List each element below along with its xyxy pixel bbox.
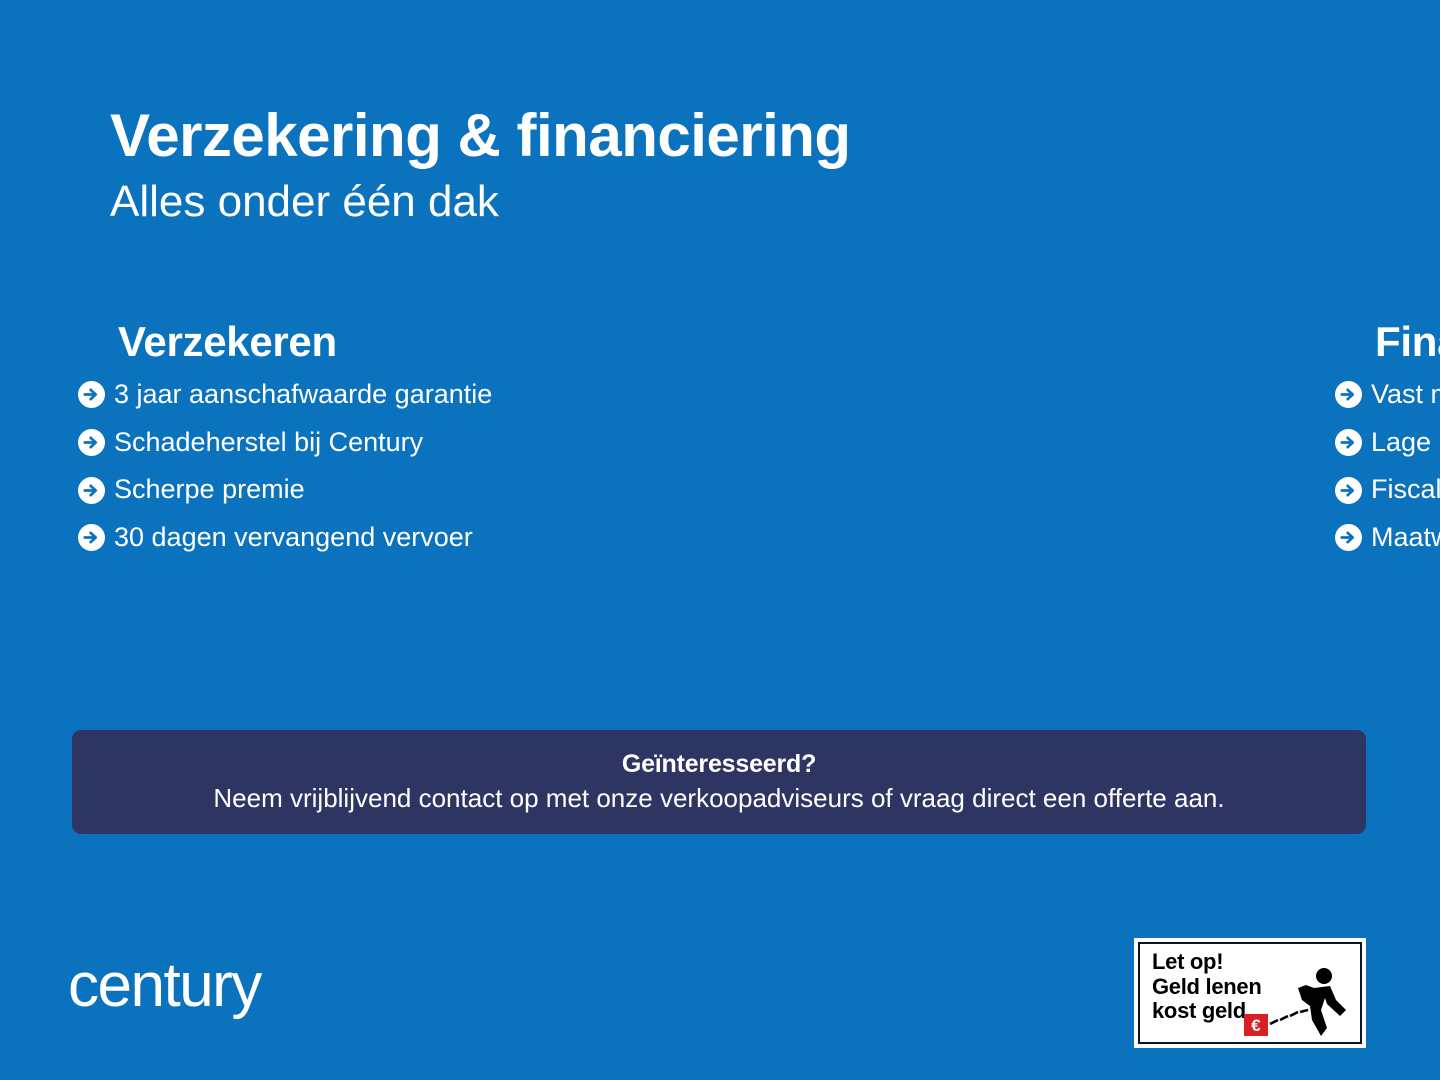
column-verzekeren: Verzekeren 3 jaar aanschafwaarde garanti… bbox=[0, 318, 630, 571]
page-title: Verzekering & financiering bbox=[110, 104, 851, 167]
arrow-circle-right-icon bbox=[78, 477, 105, 504]
list-item-label: Vast maandbedrag, looptijd en rente bbox=[1371, 380, 1440, 410]
cta-heading: Geïnteresseerd? bbox=[622, 750, 816, 779]
list-item: 3 jaar aanschafwaarde garantie bbox=[78, 380, 630, 410]
arrow-circle-right-icon bbox=[78, 524, 105, 551]
list-item-label: 3 jaar aanschafwaarde garantie bbox=[114, 380, 492, 410]
list-item-label: Lage maandlasten door hoge restwaarde bbox=[1371, 428, 1440, 458]
feature-columns: Verzekeren 3 jaar aanschafwaarde garanti… bbox=[0, 318, 1440, 571]
list-item: Schadeherstel bij Century bbox=[78, 428, 630, 458]
arrow-circle-right-icon bbox=[1335, 524, 1362, 551]
arrow-circle-right-icon bbox=[1335, 381, 1362, 408]
walking-person-with-euro-ball-and-chain-icon: € bbox=[1226, 966, 1358, 1040]
list-item: Fiscale voordelen bbox=[1335, 475, 1440, 505]
cta-body-text: Neem vrijblijvend contact op met onze ve… bbox=[213, 783, 1224, 814]
credit-warning-frame: Let op! Geld lenen kost geld bbox=[1138, 942, 1362, 1044]
list-item-label: Maatwerk en advies van onze experts bbox=[1371, 523, 1440, 553]
list-item: Lage maandlasten door hoge restwaarde bbox=[1335, 428, 1440, 458]
cta-banner: Geïnteresseerd? Neem vrijblijvend contac… bbox=[72, 730, 1366, 834]
arrow-circle-right-icon bbox=[1335, 429, 1362, 456]
list-item: Vast maandbedrag, looptijd en rente bbox=[1335, 380, 1440, 410]
list-item-label: Fiscale voordelen bbox=[1371, 475, 1440, 505]
list-item: Scherpe premie bbox=[78, 475, 630, 505]
slide-header: Verzekering & financiering Alles onder é… bbox=[110, 104, 851, 228]
column-heading-verzekeren: Verzekeren bbox=[118, 318, 630, 366]
credit-warning-box: Let op! Geld lenen kost geld bbox=[1134, 938, 1366, 1048]
bullet-list-financieren: Vast maandbedrag, looptijd en rente Lage… bbox=[1335, 380, 1440, 553]
list-item-label: 30 dagen vervangend vervoer bbox=[114, 523, 473, 553]
list-item-label: Schadeherstel bij Century bbox=[114, 428, 423, 458]
century-logo: century bbox=[68, 955, 261, 1017]
list-item-label: Scherpe premie bbox=[114, 475, 305, 505]
page-subtitle: Alles onder één dak bbox=[110, 177, 851, 228]
list-item: Maatwerk en advies van onze experts bbox=[1335, 523, 1440, 553]
column-financieren: Financieren Vast maandbedrag, looptijd e… bbox=[630, 318, 1440, 571]
slide-canvas: Verzekering & financiering Alles onder é… bbox=[0, 0, 1440, 1080]
list-item: 30 dagen vervangend vervoer bbox=[78, 523, 630, 553]
arrow-circle-right-icon bbox=[1335, 477, 1362, 504]
arrow-circle-right-icon bbox=[78, 381, 105, 408]
column-heading-financieren: Financieren bbox=[1375, 318, 1440, 366]
arrow-circle-right-icon bbox=[78, 429, 105, 456]
bullet-list-verzekeren: 3 jaar aanschafwaarde garantie Schadeher… bbox=[78, 380, 630, 553]
euro-symbol: € bbox=[1251, 1016, 1261, 1035]
